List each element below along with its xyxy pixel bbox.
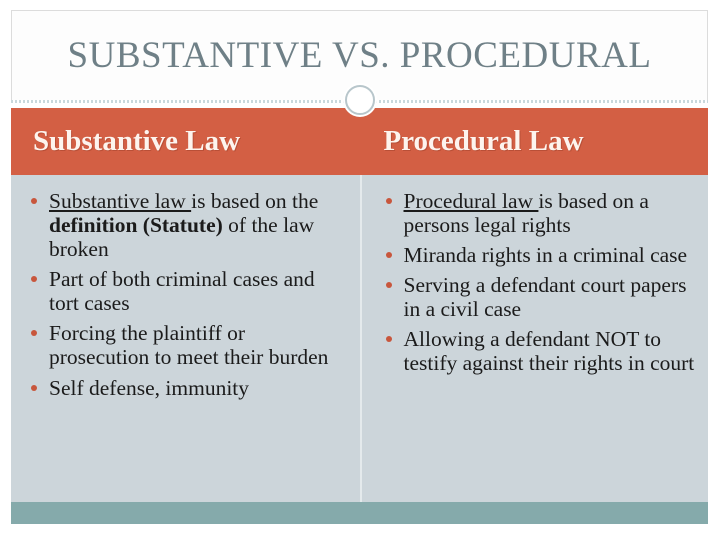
list-item: Forcing the plaintiff or prosecution to … — [29, 321, 346, 369]
content-panel: Substantive law is based on the definiti… — [11, 175, 708, 502]
column-substantive: Substantive law is based on the definiti… — [11, 175, 360, 502]
slide: SUBSTANTIVE VS. PROCEDURAL Substantive L… — [0, 0, 720, 539]
column-header-label: Procedural Law — [384, 127, 584, 156]
column-headers: Substantive Law Procedural Law — [11, 108, 708, 175]
list-item: Miranda rights in a criminal case — [384, 243, 699, 267]
bullet-list-substantive: Substantive law is based on the definiti… — [29, 189, 346, 400]
bottom-accent-band — [11, 502, 708, 524]
list-item: Self defense, immunity — [29, 376, 346, 400]
column-procedural: Procedural law is based on a persons leg… — [360, 175, 709, 502]
circle-ornament-icon — [344, 84, 376, 116]
list-item: Allowing a defendant NOT to testify agai… — [384, 327, 699, 375]
bullet-list-procedural: Procedural law is based on a persons leg… — [384, 189, 699, 376]
list-item: Serving a defendant court papers in a ci… — [384, 273, 699, 321]
column-header-substantive: Substantive Law — [11, 108, 360, 175]
page-title: SUBSTANTIVE VS. PROCEDURAL — [68, 37, 652, 74]
column-header-label: Substantive Law — [33, 127, 240, 156]
list-item: Part of both criminal cases and tort cas… — [29, 267, 346, 315]
list-item: Substantive law is based on the definiti… — [29, 189, 346, 261]
list-item: Procedural law is based on a persons leg… — [384, 189, 699, 237]
column-header-procedural: Procedural Law — [360, 108, 709, 175]
